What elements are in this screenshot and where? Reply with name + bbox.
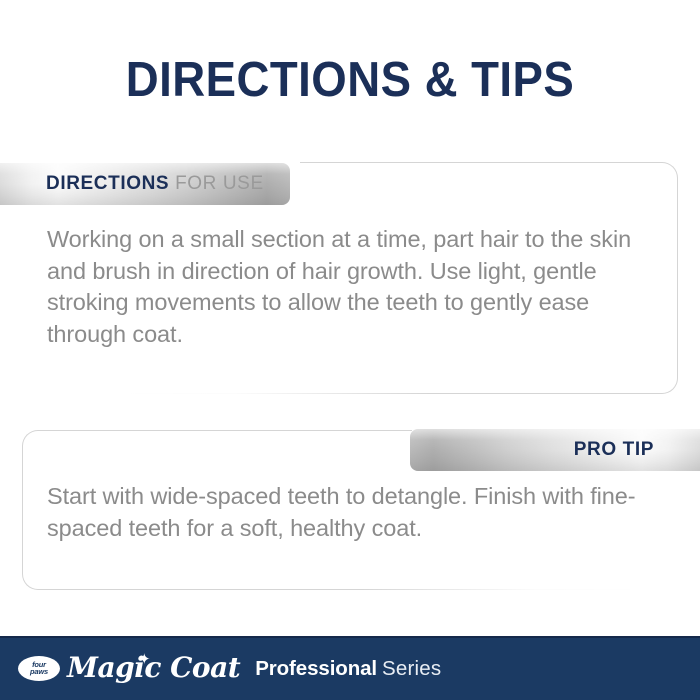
directions-body-text: Working on a small section at a time, pa… xyxy=(47,224,647,350)
directions-banner-text: DIRECTIONS FOR USE xyxy=(46,173,264,195)
pro-tip-banner-text: PRO TIP xyxy=(574,439,654,461)
page-title: DIRECTIONS & TIPS xyxy=(25,52,676,108)
pro-tip-banner-bold: PRO TIP xyxy=(574,439,654,460)
directions-card-bottom-fade xyxy=(0,391,430,395)
brand-footer: four paws Magic Coat ProfessionalSeries … xyxy=(0,636,700,700)
professional-label: Professional xyxy=(255,657,377,680)
pro-tip-banner: PRO TIP xyxy=(410,429,700,471)
four-paws-badge-line2: paws xyxy=(30,668,48,676)
series-label: Series xyxy=(382,657,441,680)
magic-coat-wordmark: Magic Coat xyxy=(67,651,240,684)
four-paws-badge-icon: four paws xyxy=(18,656,60,681)
pro-tip-body-text: Start with wide-spaced teeth to detangle… xyxy=(47,481,637,544)
brand-logo: four paws Magic Coat ProfessionalSeries xyxy=(18,636,441,700)
professional-series-label: ProfessionalSeries xyxy=(255,657,441,681)
directions-banner-light: FOR USE xyxy=(169,173,264,194)
directions-banner: DIRECTIONS FOR USE xyxy=(0,163,290,205)
product-info-panel: DIRECTIONS & TIPS DIRECTIONS FOR USE Wor… xyxy=(0,0,700,700)
directions-banner-bold: DIRECTIONS xyxy=(46,173,169,194)
pro-tip-card-bottom-fade xyxy=(362,587,700,591)
